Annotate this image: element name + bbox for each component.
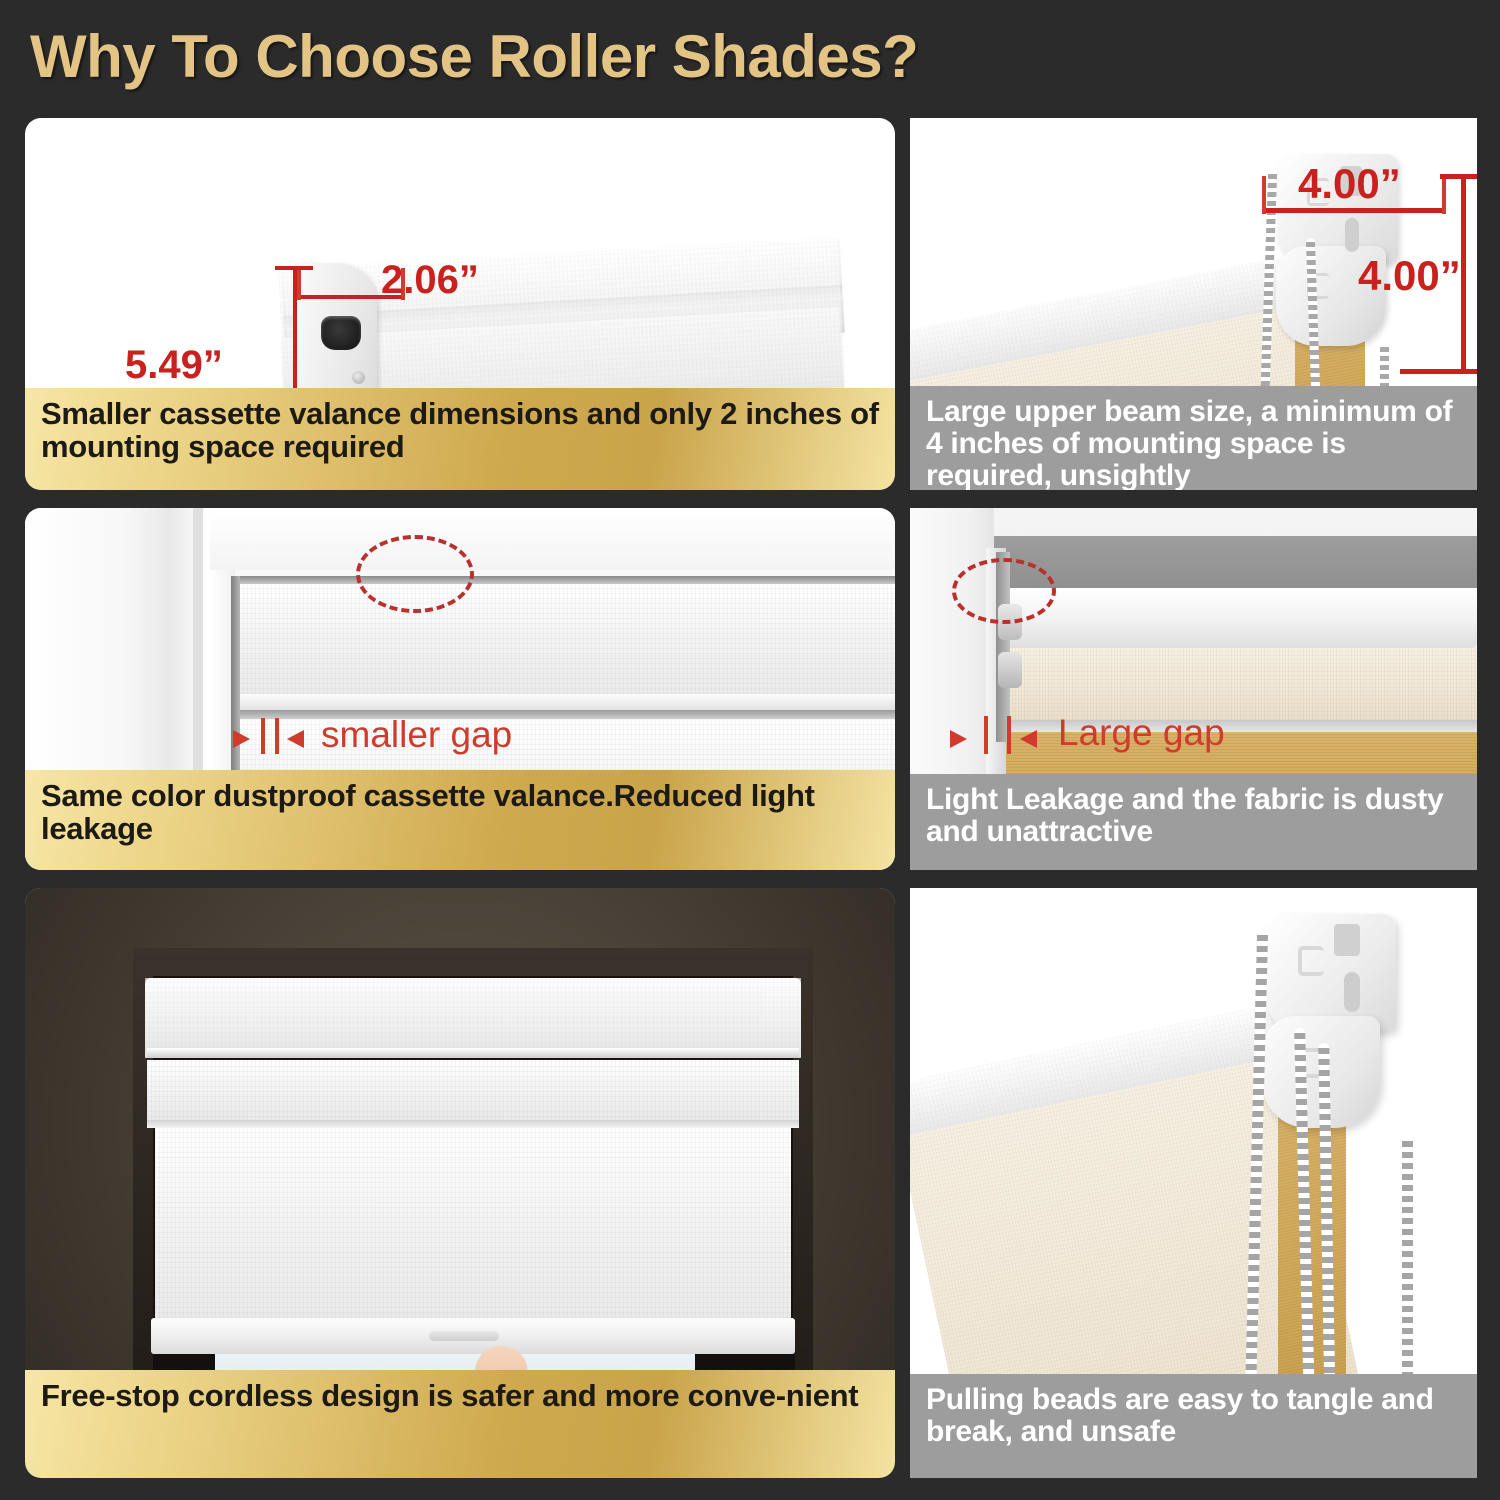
gap-highlight-ellipse <box>952 558 1056 624</box>
beam-width-tick-left <box>1262 176 1266 214</box>
beam-height-tick-top <box>1440 174 1477 179</box>
panel-mid-left-caption: Same color dustproof cassette valance.Re… <box>25 770 895 870</box>
height-dimension-label: 5.49” <box>125 343 223 388</box>
beam-height-tick-bottom <box>1400 369 1477 374</box>
height-tick-top <box>275 266 313 270</box>
panel-mid-right-caption: Light Leakage and the fabric is dusty an… <box>910 774 1477 870</box>
beam-height-label: 4.00” <box>1358 252 1461 300</box>
gap-tick-a <box>261 718 265 754</box>
panel-mid-left: smaller gap Same color dustproof cassett… <box>25 508 895 870</box>
beam-width-tick-right <box>1442 176 1446 214</box>
gap-highlight-ellipse <box>356 535 474 613</box>
beam-width-label: 4.00” <box>1298 160 1401 208</box>
beam-height-dimension-line <box>1461 174 1466 374</box>
large-gap-label: Large gap <box>1058 712 1225 754</box>
panel-mid-right: Large gap Light Leakage and the fabric i… <box>910 508 1477 870</box>
gap-tick-a <box>984 716 988 754</box>
gap-arrow-right <box>1020 730 1037 748</box>
panel-top-left-caption: Smaller cassette valance dimensions and … <box>25 388 895 490</box>
gap-arrow-right <box>287 730 304 748</box>
panel-top-left: 2.06” 5.49” Smaller cassette valance dim… <box>25 118 895 490</box>
panel-bottom-left: Free-stop cordless design is safer and m… <box>25 888 895 1478</box>
width-dimension-label: 2.06” <box>381 258 479 303</box>
panel-bottom-left-caption: Free-stop cordless design is safer and m… <box>25 1370 895 1478</box>
smaller-gap-label: smaller gap <box>321 714 512 756</box>
gap-arrow-left <box>950 730 967 748</box>
gap-arrow-left <box>233 730 250 748</box>
page-title: Why To Choose Roller Shades? <box>30 22 918 91</box>
beam-width-dimension-line <box>1262 208 1446 213</box>
width-tick-left <box>297 268 301 300</box>
infographic-page: Why To Choose Roller Shades? 2.06” <box>0 0 1500 1500</box>
gap-tick-b <box>1007 716 1011 754</box>
panel-bottom-right-caption: Pulling beads are easy to tangle and bre… <box>910 1374 1477 1478</box>
gap-tick-b <box>275 718 279 754</box>
panel-top-right-caption: Large upper beam size, a minimum of 4 in… <box>910 386 1477 490</box>
panel-top-right: 4.00” 4.00” Large upper beam size, a min… <box>910 118 1477 490</box>
panel-bottom-right: Pulling beads are easy to tangle and bre… <box>910 888 1477 1478</box>
